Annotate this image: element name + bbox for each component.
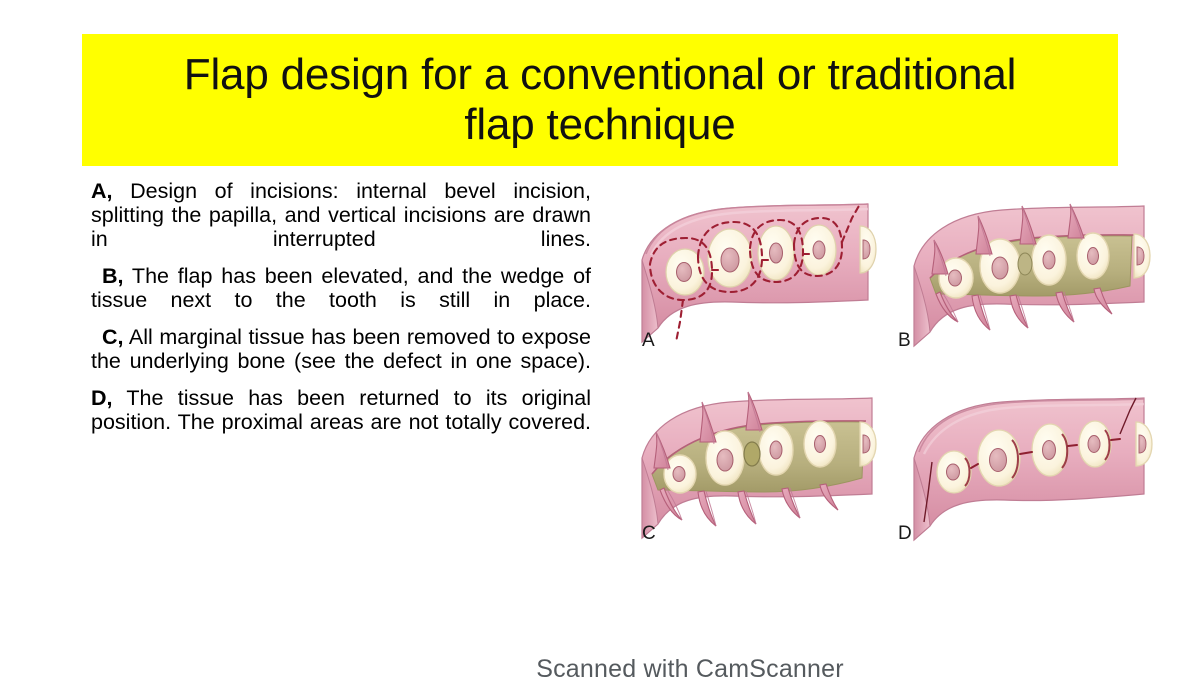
tooth-1 (937, 451, 971, 493)
flap-technique-figure: A B C D (620, 182, 1190, 562)
paragraph-c: C, All marginal tissue has been removed … (91, 326, 591, 374)
tooth-5-partial (1136, 422, 1152, 466)
camscanner-watermark: Scanned with CamScanner (0, 655, 1200, 684)
tooth-3 (1032, 235, 1066, 285)
panel-d-svg (892, 374, 1177, 564)
paragraph-c-body: All marginal tissue has been removed to … (91, 325, 591, 373)
panel-b-svg (892, 182, 1177, 372)
paragraph-c-lead: C, (102, 325, 124, 349)
tooth-3 (758, 226, 794, 280)
tooth-3 (759, 425, 793, 475)
page-title: Flap design for a conventional or tradit… (184, 50, 1016, 150)
tooth-2 (978, 430, 1020, 486)
paragraph-d-body: The tissue has been returned to its orig… (91, 386, 591, 434)
panel-b-illustration (892, 182, 1177, 372)
panel-label-d: D (898, 523, 912, 545)
tooth-4 (804, 421, 836, 467)
title-banner: Flap design for a conventional or tradit… (82, 34, 1118, 166)
tooth-4 (1079, 421, 1111, 467)
paragraph-a-lead: A, (91, 179, 113, 203)
panel-a-illustration (620, 182, 905, 372)
panel-c-illustration (620, 374, 905, 564)
panel-a-svg (620, 182, 905, 372)
slide-canvas: Flap design for a conventional or tradit… (0, 0, 1200, 699)
tooth-5-partial (1134, 234, 1150, 278)
panel-d-illustration (892, 374, 1177, 564)
paragraph-d: D, The tissue has been returned to its o… (91, 387, 591, 435)
paragraph-d-lead: D, (91, 386, 113, 410)
panel-c-svg (620, 374, 905, 564)
paragraph-a: A, Design of incisions: internal bevel i… (91, 180, 591, 252)
bone-defect-c (744, 442, 760, 466)
description-text-column: A, Design of incisions: internal bevel i… (91, 180, 591, 435)
paragraph-a-body: Design of incisions: internal bevel inci… (91, 179, 591, 251)
paragraph-b-lead: B, (102, 264, 124, 288)
panel-label-b: B (898, 330, 911, 352)
panel-label-c: C (642, 523, 656, 545)
tooth-1 (664, 455, 696, 493)
tooth-4 (802, 225, 836, 275)
tooth-2 (708, 229, 752, 287)
tooth-5-partial (860, 226, 876, 273)
tooth-5-partial (860, 422, 876, 466)
tooth-3 (1032, 424, 1068, 476)
paragraph-b: B, The flap has been elevated, and the w… (91, 265, 591, 313)
camscanner-watermark-text: Scanned with CamScanner (536, 655, 844, 684)
interdental-tissue-wedge-b (1018, 253, 1032, 275)
paragraph-b-body: The flap has been elevated, and the wedg… (91, 264, 591, 312)
panel-label-a: A (642, 330, 655, 352)
